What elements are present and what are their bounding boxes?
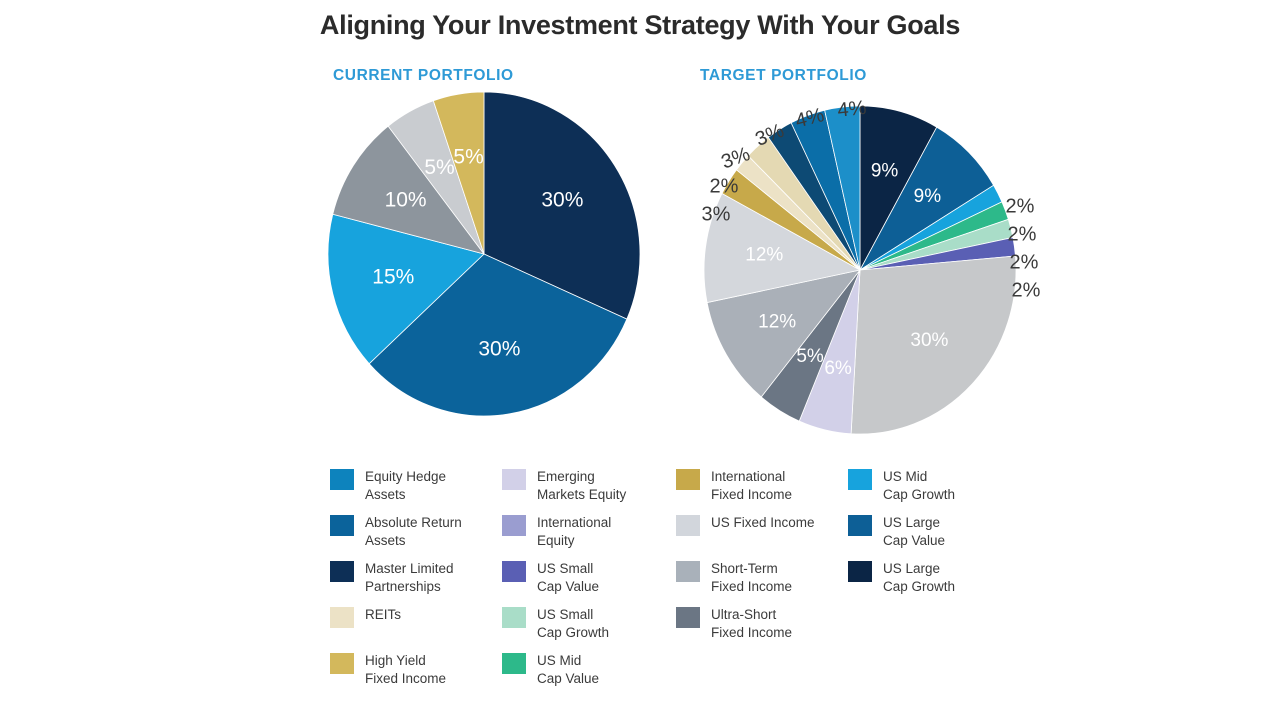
pie-outer-label: 3% [702,203,731,225]
pie-slice-label: 30% [541,188,583,211]
legend: Equity Hedge AssetsAbsolute Return Asset… [330,468,1090,708]
legend-item-ultra-short-fixed-income[interactable]: Ultra-Short Fixed Income [676,606,848,644]
pie-slice-label: 12% [758,312,796,333]
legend-label-us-small-cap-value: US Small Cap Value [537,560,599,596]
legend-column: International Fixed IncomeUS Fixed Incom… [676,468,848,708]
legend-swatch-short-term-fixed-income [676,561,700,582]
pie-slice-label: 9% [914,186,942,207]
legend-item-us-small-cap-value[interactable]: US Small Cap Value [502,560,676,598]
legend-swatch-high-yield-fixed-income [330,653,354,674]
legend-item-us-mid-cap-growth[interactable]: US Mid Cap Growth [848,468,1020,506]
legend-swatch-reits [330,607,354,628]
legend-item-us-fixed-income[interactable]: US Fixed Income [676,514,848,552]
legend-column: Emerging Markets EquityInternational Equ… [502,468,676,708]
legend-label-us-small-cap-growth: US Small Cap Growth [537,606,609,642]
legend-label-us-large-cap-value: US Large Cap Value [883,514,945,550]
pie-outer-label: 2% [1008,223,1037,245]
pie-slice-label: 30% [910,330,948,351]
legend-item-international-fixed-income[interactable]: International Fixed Income [676,468,848,506]
legend-label-us-mid-cap-growth: US Mid Cap Growth [883,468,955,504]
legend-item-us-small-cap-growth[interactable]: US Small Cap Growth [502,606,676,644]
legend-item-emerging-markets-equity[interactable]: Emerging Markets Equity [502,468,676,506]
pie-slice-label: 10% [385,188,427,211]
pie-slice-label: 15% [372,265,414,288]
legend-label-short-term-fixed-income: Short-Term Fixed Income [711,560,792,596]
pie-slice-label: 5% [796,346,824,367]
legend-item-us-large-cap-growth[interactable]: US Large Cap Growth [848,560,1020,598]
pie-chart-current-portfolio: 30%30%15%10%5%5% [322,92,646,416]
legend-item-us-large-cap-value[interactable]: US Large Cap Value [848,514,1020,552]
legend-label-high-yield-fixed-income: High Yield Fixed Income [365,652,446,688]
pie-slices-target [704,106,1016,434]
legend-label-us-mid-cap-value: US Mid Cap Value [537,652,599,688]
legend-item-short-term-fixed-income[interactable]: Short-Term Fixed Income [676,560,848,598]
legend-swatch-absolute-return-assets [330,515,354,536]
pie-outer-label: 4% [836,97,867,122]
pie-slice-label: 6% [824,358,852,379]
legend-label-master-limited-partnerships: Master Limited Partnerships [365,560,454,596]
legend-swatch-international-equity [502,515,526,536]
pie-outer-label: 2% [1012,279,1041,301]
legend-swatch-us-mid-cap-growth [848,469,872,490]
legend-label-equity-hedge-assets: Equity Hedge Assets [365,468,446,504]
legend-swatch-emerging-markets-equity [502,469,526,490]
legend-item-reits[interactable]: REITs [330,606,502,644]
pie-svg-target: 9%9%30%6%5%12%12% 2%2%2%2%3%2%3%3%4%4% [700,102,1032,434]
legend-item-absolute-return-assets[interactable]: Absolute Return Assets [330,514,502,552]
pie-outer-label: 2% [710,175,739,197]
chart-page: Aligning Your Investment Strategy With Y… [0,0,1280,720]
legend-column: Equity Hedge AssetsAbsolute Return Asset… [330,468,502,708]
pie-outer-label: 2% [1010,251,1039,273]
legend-label-us-fixed-income: US Fixed Income [711,514,815,532]
pie-slice-label: 5% [424,156,454,179]
panel-title-target: TARGET PORTFOLIO [700,67,867,85]
legend-swatch-us-fixed-income [676,515,700,536]
legend-item-us-mid-cap-value[interactable]: US Mid Cap Value [502,652,676,690]
pie-outer-label: 2% [1006,195,1035,217]
panel-title-current: CURRENT PORTFOLIO [333,67,514,85]
legend-label-absolute-return-assets: Absolute Return Assets [365,514,462,550]
legend-item-high-yield-fixed-income[interactable]: High Yield Fixed Income [330,652,502,690]
legend-swatch-master-limited-partnerships [330,561,354,582]
legend-label-us-large-cap-growth: US Large Cap Growth [883,560,955,596]
page-title: Aligning Your Investment Strategy With Y… [0,10,1280,41]
legend-label-emerging-markets-equity: Emerging Markets Equity [537,468,626,504]
pie-slice-label: 9% [871,161,899,182]
legend-swatch-us-large-cap-growth [848,561,872,582]
legend-swatch-us-mid-cap-value [502,653,526,674]
legend-label-international-fixed-income: International Fixed Income [711,468,792,504]
legend-swatch-us-small-cap-growth [502,607,526,628]
legend-item-master-limited-partnerships[interactable]: Master Limited Partnerships [330,560,502,598]
legend-swatch-us-small-cap-value [502,561,526,582]
pie-slices-current [328,92,640,416]
legend-item-equity-hedge-assets[interactable]: Equity Hedge Assets [330,468,502,506]
legend-swatch-international-fixed-income [676,469,700,490]
legend-label-international-equity: International Equity [537,514,611,550]
pie-svg-current: 30%30%15%10%5%5% [322,92,646,416]
legend-label-reits: REITs [365,606,401,624]
legend-swatch-ultra-short-fixed-income [676,607,700,628]
pie-slice-label: 5% [453,146,483,169]
legend-swatch-equity-hedge-assets [330,469,354,490]
legend-item-international-equity[interactable]: International Equity [502,514,676,552]
legend-swatch-us-large-cap-value [848,515,872,536]
legend-label-ultra-short-fixed-income: Ultra-Short Fixed Income [711,606,792,642]
pie-slice-label: 12% [745,245,783,266]
pie-slice-label: 30% [478,337,520,360]
legend-column: US Mid Cap GrowthUS Large Cap ValueUS La… [848,468,1020,708]
pie-chart-target-portfolio: 9%9%30%6%5%12%12% 2%2%2%2%3%2%3%3%4%4% [700,102,1032,434]
